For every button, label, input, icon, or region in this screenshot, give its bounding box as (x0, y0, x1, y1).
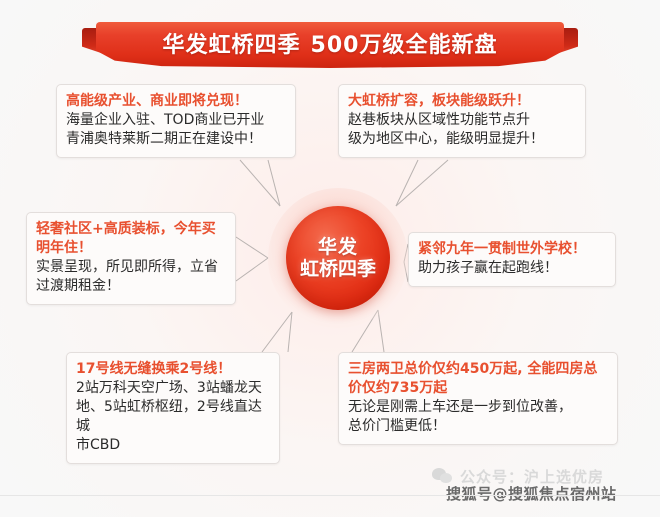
callout-school-body: 助力孩子赢在起跑线！ (418, 259, 606, 278)
title-banner: 华发虹桥四季500万级全能新盘 (0, 8, 660, 68)
poster-canvas: 华发虹桥四季500万级全能新盘 华发 虹桥四季 高能级产业、商业即将兑现！ 海量… (0, 0, 660, 517)
center-logo-line1: 华发 (318, 236, 358, 258)
callout-hongqiao-body: 赵巷板块从区域性功能节点升 级为地区中心，能级明显提升！ (348, 111, 576, 149)
callout-metro-body: 2站万科天空广场、3站蟠龙天 地、5站虹桥枢纽，2号线直达城 市CBD (76, 379, 270, 455)
callout-price-body: 无论是刚需上车还是一步到位改善， 总价门槛更低！ (348, 398, 608, 436)
banner-title-sub: 500万级全能新盘 (311, 33, 498, 58)
callout-hongqiao-heading: 大虹桥扩容，板块能级跃升！ (348, 92, 576, 111)
callout-price: 三房两卫总价仅约450万起, 全能四房总价仅约735万起 无论是刚需上车还是一步… (338, 352, 618, 445)
banner-ribbon: 华发虹桥四季500万级全能新盘 (96, 22, 564, 68)
center-logo-circle: 华发 虹桥四季 (286, 206, 390, 310)
callout-industry-body: 海量企业入驻、TOD商业已开业 青浦奥特莱斯二期正在建设中！ (66, 111, 286, 149)
callout-school-heading: 紧邻九年一贯制世外学校！ (418, 240, 606, 259)
banner-title: 华发虹桥四季500万级全能新盘 (163, 27, 498, 59)
bottom-divider (0, 495, 660, 496)
callout-school: 紧邻九年一贯制世外学校！ 助力孩子赢在起跑线！ (408, 232, 616, 287)
callout-metro: 17号线无缝换乘2号线！ 2站万科天空广场、3站蟠龙天 地、5站虹桥枢纽，2号线… (66, 352, 280, 464)
callout-industry: 高能级产业、商业即将兑现！ 海量企业入驻、TOD商业已开业 青浦奥特莱斯二期正在… (56, 84, 296, 158)
callout-community: 轻奢社区+高质装标，今年买明年住！ 实景呈现，所见即所得，立省 过渡期租金！ (26, 212, 236, 305)
center-logo-line2: 虹桥四季 (300, 258, 376, 281)
callout-community-body: 实景呈现，所见即所得，立省 过渡期租金！ (36, 258, 226, 296)
callout-industry-heading: 高能级产业、商业即将兑现！ (66, 92, 286, 111)
banner-title-main: 华发虹桥四季 (163, 33, 301, 58)
callout-price-heading: 三房两卫总价仅约450万起, 全能四房总价仅约735万起 (348, 360, 608, 398)
callout-community-heading: 轻奢社区+高质装标，今年买明年住！ (36, 220, 226, 258)
callout-metro-heading: 17号线无缝换乘2号线！ (76, 360, 270, 379)
callout-hongqiao: 大虹桥扩容，板块能级跃升！ 赵巷板块从区域性功能节点升 级为地区中心，能级明显提… (338, 84, 586, 158)
watermark-sohu: 搜狐号@搜狐焦点宿州站 (446, 483, 617, 504)
